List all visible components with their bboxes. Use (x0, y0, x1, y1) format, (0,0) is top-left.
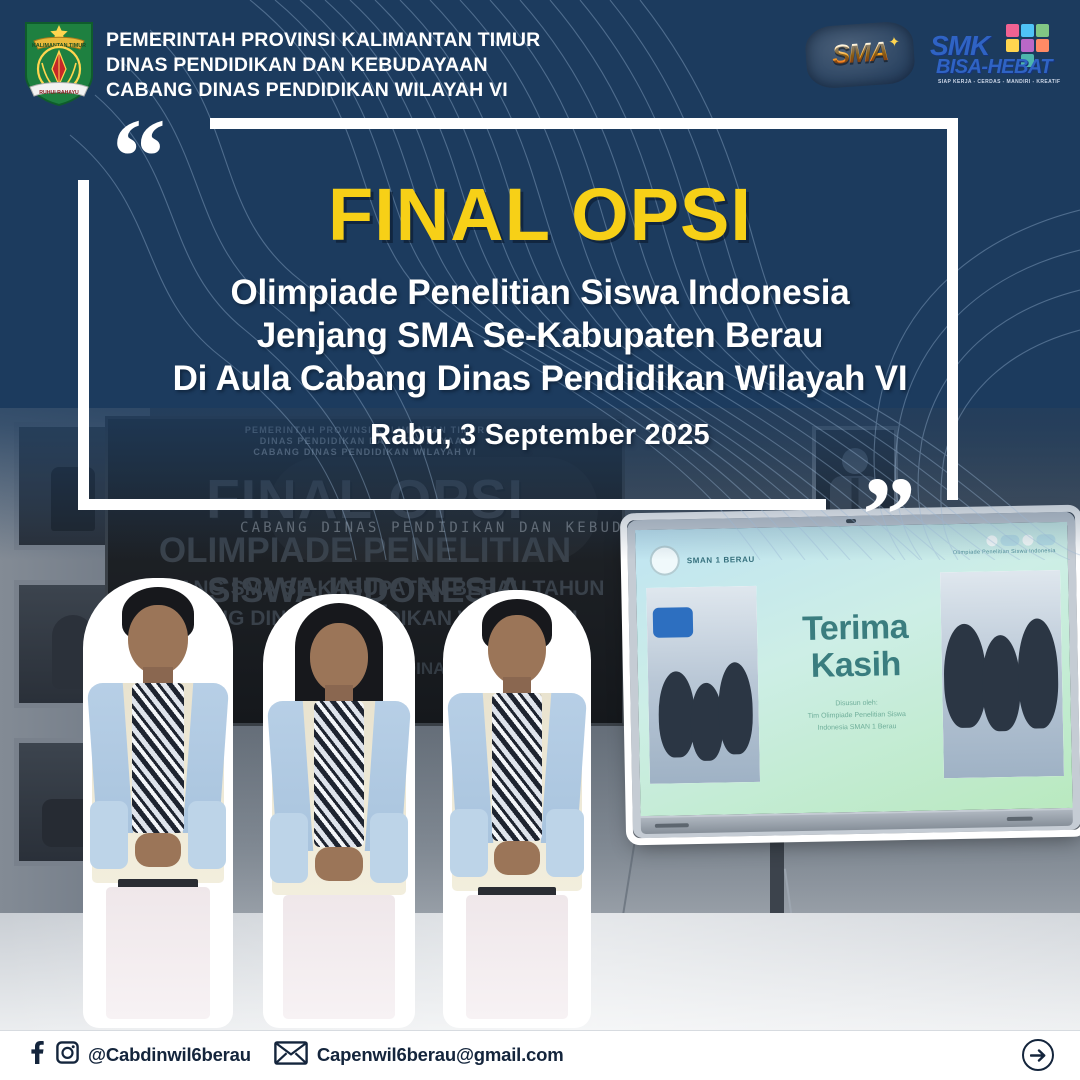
jacket-sleeve-left (450, 809, 488, 877)
student-skirt (283, 895, 395, 1019)
student-batik-shirt (314, 701, 364, 847)
student-face (128, 605, 188, 675)
portrait-tie (852, 478, 859, 512)
student-hands (494, 841, 540, 875)
social-handle[interactable]: @Cabdinwil6berau (88, 1044, 251, 1066)
slide-photo-left (646, 586, 760, 784)
subtitle-line-1: Olimpiade Penelitian Siswa Indonesia (0, 273, 1080, 313)
student-face (310, 623, 368, 693)
smk-square (1021, 24, 1034, 37)
slide-opsi-caption: Olimpiade Penelitian Siswa Indonesia (953, 548, 1056, 556)
student-batik-shirt (492, 693, 542, 841)
student-figure (92, 587, 224, 1019)
smk-bisa-hebat-logo-icon: SMK BISA-HEBAT SIAP KERJA - CERDAS - MAN… (930, 22, 1062, 92)
student-hands (315, 847, 363, 881)
smk-square (1021, 39, 1034, 52)
poster-header: KALIMANTAN TIMUR RUHUI RAHAYU PEMERINTAH… (0, 0, 1080, 112)
slide-title-line-2: Kasih (765, 645, 946, 685)
org-line-1: PEMERINTAH PROVINSI KALIMANTAN TIMUR (106, 28, 540, 53)
tv-camera (846, 519, 856, 523)
opsi-logo-icon (953, 534, 1056, 547)
sma-logo-icon: SMA ✦ (804, 20, 916, 89)
subtitle-line-3: Di Aula Cabang Dinas Pendidikan Wilayah … (0, 359, 1080, 399)
sma-star-icon: ✦ (888, 33, 901, 51)
student-figure (272, 603, 406, 1019)
slide-photo-right (940, 570, 1064, 778)
student-left (92, 587, 224, 1019)
student-right (452, 599, 582, 1019)
frame-top-bar (210, 118, 958, 129)
contact-footer: @Cabdinwil6berau Capenwil6berau@gmail.co… (0, 1030, 1080, 1080)
student-batik-shirt (132, 683, 184, 833)
student-jacket (92, 683, 224, 883)
slide-equipment (653, 607, 694, 638)
slide-title: Terima Kasih (765, 608, 946, 685)
tv-bezel: SMAN 1 BERAU Olimpiade Penelitian Siswa … (635, 522, 1072, 816)
slide-credits: Disusun oleh: Tim Olimpiade Penelitian S… (766, 696, 947, 735)
student-trousers (106, 887, 210, 1019)
opsi-dot (1036, 534, 1055, 545)
student-jacket (272, 701, 406, 895)
student-center (272, 603, 406, 1019)
footer-divider (0, 1030, 1080, 1031)
org-line-2: DINAS PENDIDIKAN DAN KEBUDAYAAN (106, 53, 540, 78)
student-face (488, 615, 546, 685)
opsi-dot (1022, 535, 1033, 546)
footer-contacts: @Cabdinwil6berau Capenwil6berau@gmail.co… (26, 1041, 564, 1070)
jacket-sleeve-right (370, 813, 408, 883)
smk-square (1006, 39, 1019, 52)
poster-canvas: PEMERINTAH PROVINSI KALIMANTAN TIMUR DIN… (0, 0, 1080, 1080)
smk-square (1036, 39, 1049, 52)
organization-name: PEMERINTAH PROVINSI KALIMANTAN TIMUR DIN… (106, 28, 540, 102)
opsi-dot (986, 535, 997, 546)
jacket-sleeve-right (546, 809, 584, 877)
opsi-dot (1000, 535, 1019, 546)
slide-school-name: SMAN 1 BERAU (687, 554, 755, 564)
smk-square (1006, 24, 1019, 37)
envelope-icon[interactable] (274, 1041, 308, 1070)
org-line-3: CABANG DINAS PENDIDIKAN WILAYAH VI (106, 78, 540, 103)
tv-button (655, 823, 689, 828)
slide-title-line-1: Terima (765, 608, 946, 648)
event-date: Rabu, 3 September 2025 (0, 419, 1080, 452)
frame-bottom-bar (78, 499, 826, 510)
school-logo-icon (649, 545, 680, 576)
subtitle-line-2: Jenjang SMA Se-Kabupaten Berau (0, 316, 1080, 356)
kaltim-provincial-emblem-icon: KALIMANTAN TIMUR RUHUI RAHAYU (22, 17, 96, 107)
tv-button (1007, 817, 1033, 821)
jacket-sleeve-right (188, 801, 226, 869)
closing-quote-mark: ” (862, 462, 914, 570)
arrow-right-icon[interactable] (1022, 1039, 1054, 1071)
instagram-icon[interactable] (56, 1041, 79, 1069)
slide-credit-3: Indonesia SMAN 1 Berau (767, 720, 947, 735)
smk-slogan-text: BISA-HEBAT (936, 56, 1052, 79)
svg-text:RUHUI RAHAYU: RUHUI RAHAYU (39, 90, 79, 96)
slide-opsi-logo: Olimpiade Penelitian Siswa Indonesia (953, 534, 1056, 556)
slide-school-badge: SMAN 1 BERAU (649, 544, 755, 576)
interactive-display-screen: SMAN 1 BERAU Olimpiade Penelitian Siswa … (627, 512, 1080, 839)
presentation-slide: SMAN 1 BERAU Olimpiade Penelitian Siswa … (635, 522, 1072, 816)
page-title: FINAL OPSI (0, 172, 1080, 257)
jacket-sleeve-left (90, 801, 128, 869)
jacket-sleeve-left (270, 813, 308, 883)
facebook-icon[interactable] (26, 1041, 47, 1069)
email-address[interactable]: Capenwil6berau@gmail.com (317, 1044, 564, 1066)
student-trousers (466, 895, 568, 1019)
smk-square (1036, 24, 1049, 37)
smk-tagline-text: SIAP KERJA - CERDAS - MANDIRI - KREATIF (938, 79, 1060, 85)
student-jacket (452, 693, 582, 891)
student-figure (452, 599, 582, 1019)
student-hands (135, 833, 181, 867)
